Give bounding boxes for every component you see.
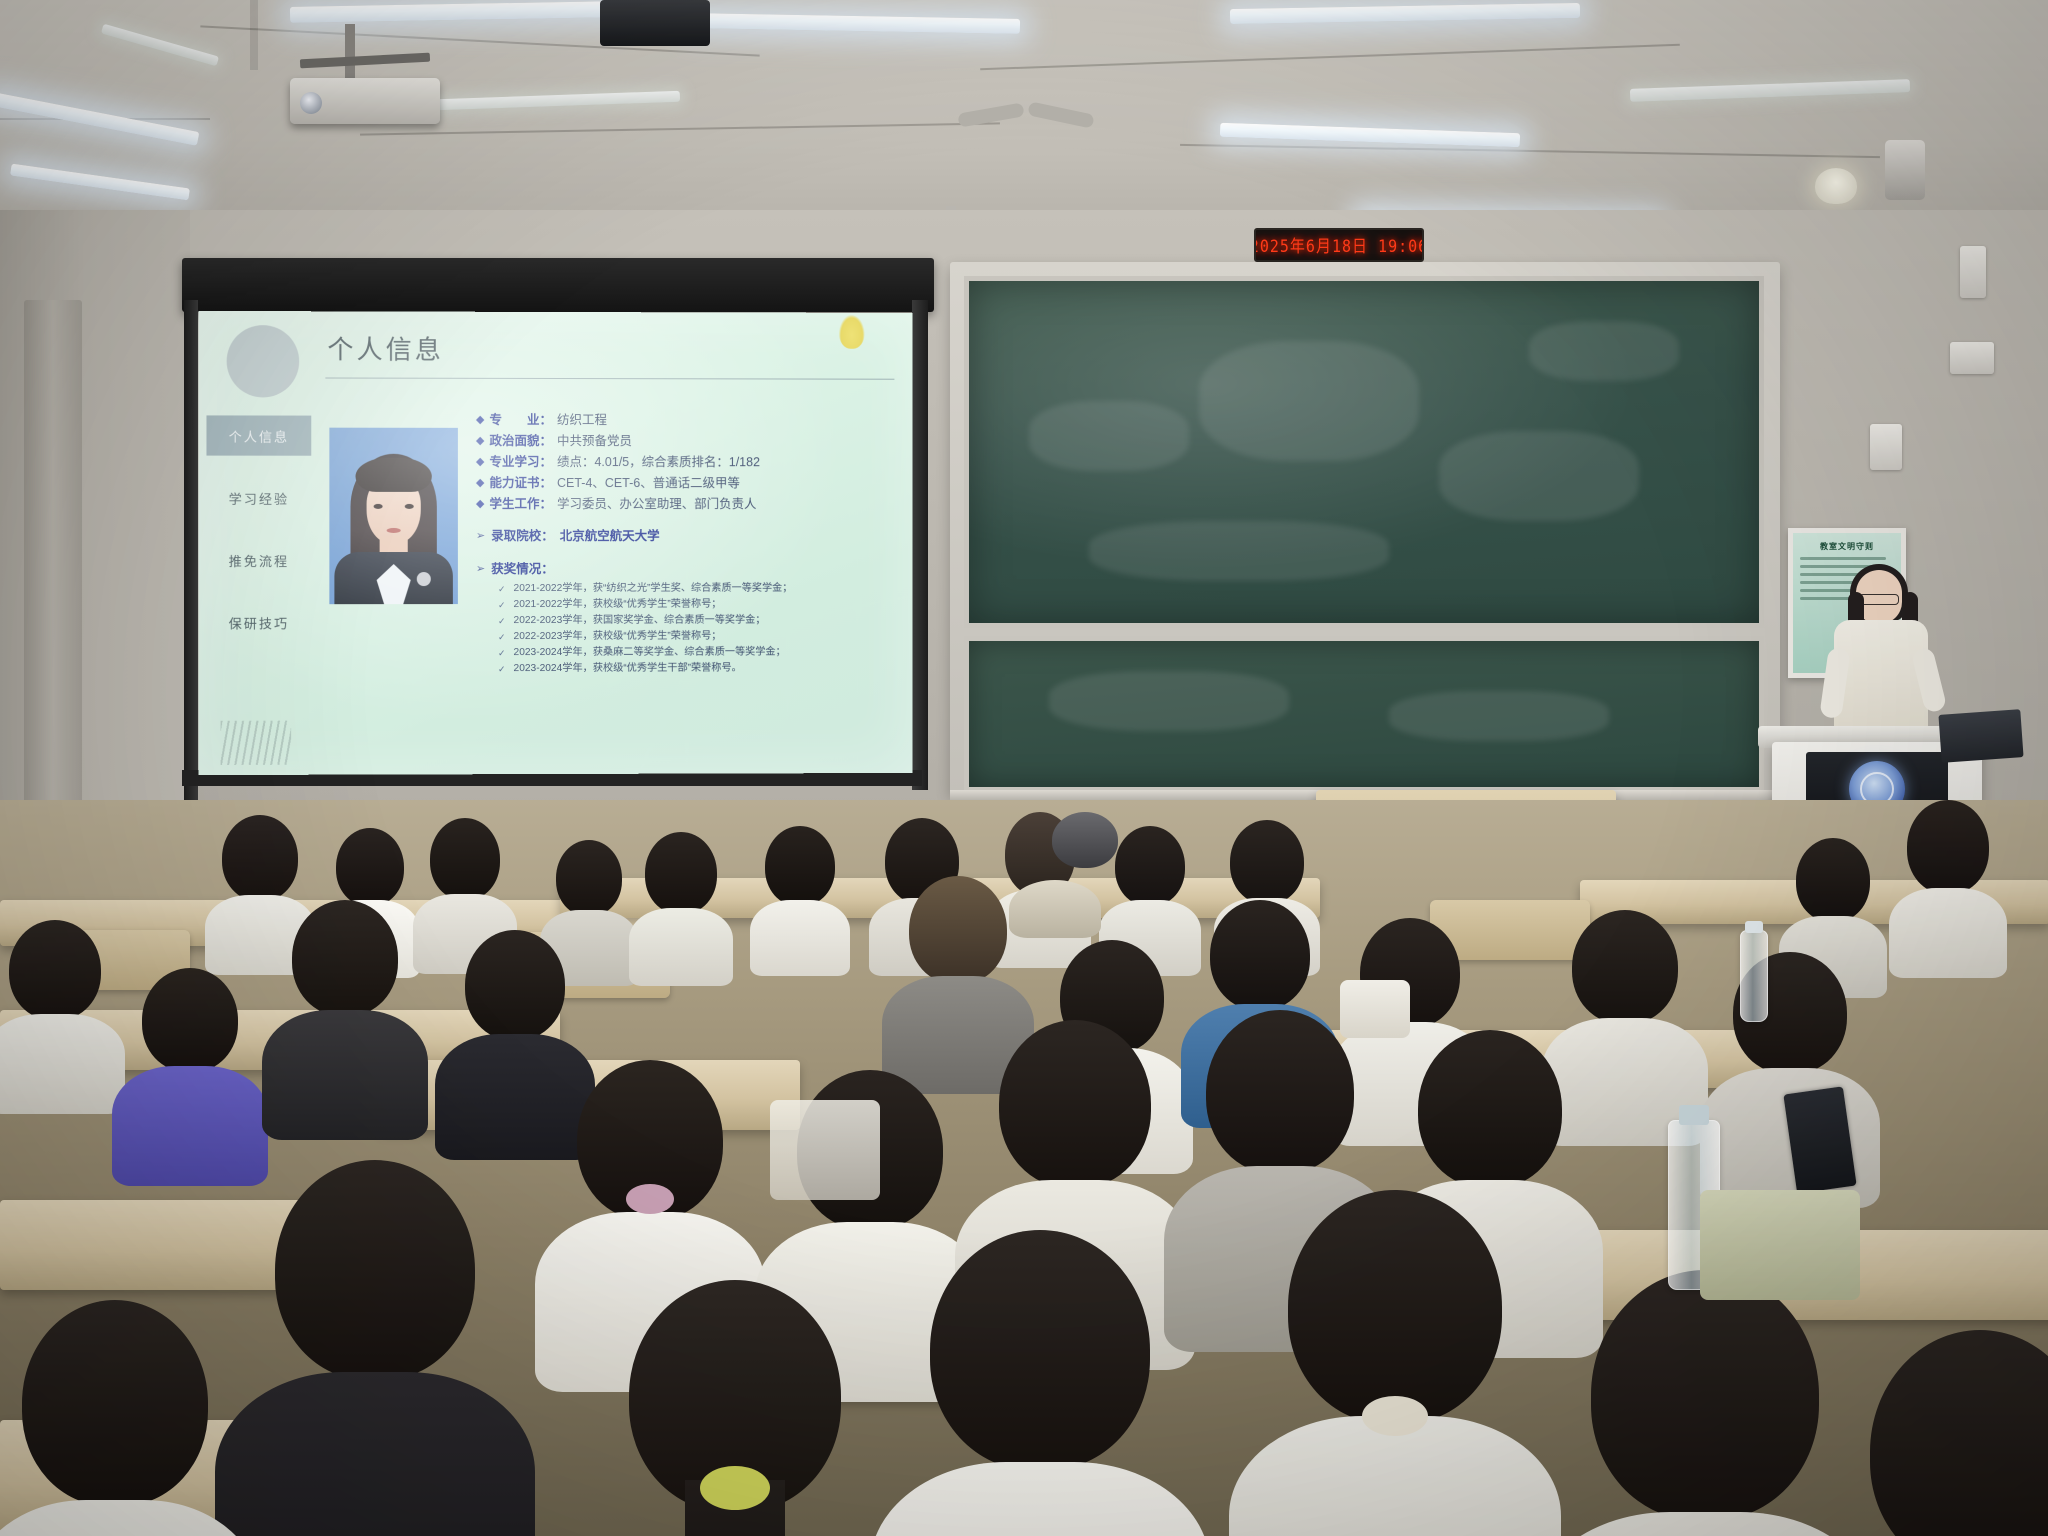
ceiling-fan [958,108,1098,124]
photo-shirt [377,564,411,604]
audience-person-foreground [0,1300,230,1536]
check-bullet-icon: ✓ [498,645,506,661]
slide-decoration-circle [227,325,300,397]
slide-bullet-political-status: ◆ 政治面貌： 中共预备党员 [476,431,904,453]
photo-eye-right [405,504,414,509]
award-list-item: ✓ 2021-2022学年，获校级“优秀学生”荣誉称号； [476,597,904,613]
audience-person [1045,812,1125,872]
slide-section-admitted-school: ➢ 录取院校： 北京航空航天大学 [476,524,904,548]
slide-nav: 个人信息 学习经验 推免流程 保研技巧 [206,415,311,664]
person-head [645,832,717,914]
audience-person-foreground [900,1230,1180,1536]
projection-screen-frame [182,258,934,312]
slide-nav-item-personal-info[interactable]: 个人信息 [206,415,311,455]
award-text: 2023-2024学年，获校级“优秀学生干部”荣誉称号。 [514,661,742,677]
slide-bullet-student-work: ◆ 学生工作： 学习委员、办公室助理、部门负责人 [476,494,904,515]
award-text: 2021-2022学年，获校级“优秀学生”荣誉称号； [514,597,722,613]
slide-body: ◆ 专 业： 纺织工程 ◆ 政治面貌： 中共预备党员 ◆ 专业学习： 绩点：4.… [476,410,904,677]
award-list-item: ✓ 2022-2023学年，获国家奖学金、综合素质一等奖学金； [476,613,904,629]
bullet-key: 学生工作： [489,494,552,515]
diamond-bullet-icon: ◆ [476,494,484,515]
wall-lamp [1815,168,1857,204]
person-head [1230,820,1304,904]
podium-monitor[interactable] [1938,709,2023,763]
award-text: 2022-2023学年，获国家奖学金、综合素质一等奖学金； [514,613,766,629]
person-head [1418,1030,1562,1188]
wall-switch[interactable] [1960,246,1986,298]
person-head [142,968,238,1072]
person-head-curly [909,876,1007,984]
person-body [1889,888,2007,978]
person-head [1870,1330,2048,1536]
chevron-bullet-icon: ➢ [476,524,485,548]
audience-person [425,818,505,944]
bullet-key: 能力证书： [489,473,552,494]
person-head [275,1160,475,1380]
person-body [0,1014,125,1114]
audience-person-with-cap [1000,880,1110,940]
bullet-key: 专业学习： [489,452,552,473]
hair-scrunchie [626,1184,674,1214]
audience-person-foreground [1840,1330,2048,1536]
diamond-bullet-icon: ◆ [476,452,484,473]
wall-pillar [24,300,82,860]
award-text: 2022-2023学年，获校级“优秀学生”荣誉称号； [514,629,722,645]
award-list-item: ✓ 2022-2023学年，获校级“优秀学生”荣誉称号； [476,629,904,645]
chevron-bullet-icon: ➢ [476,557,485,581]
screenshot-root: 2025年6月18日 19:06 个人信息 个人信息 学习经验 推免流程 保研技… [0,0,2048,1536]
projector-mount [345,24,355,82]
person-body [0,1500,260,1536]
check-bullet-icon: ✓ [498,597,506,613]
diamond-bullet-icon: ◆ [476,473,484,494]
award-list-item: ✓ 2021-2022学年，获“纺织之光”学生奖、综合素质一等奖学金； [476,581,904,597]
slide-nav-item-recommendation-process[interactable]: 推免流程 [206,540,311,580]
slide-title-rule [325,377,894,379]
diamond-bullet-icon: ◆ [476,431,484,452]
person-head [1052,812,1118,868]
led-clock-text: 2025年6月18日 19:06 [1254,233,1424,257]
blackboard-lower [964,636,1764,792]
slide-bullet-major: ◆ 专 业： 纺织工程 [476,410,904,432]
photo-mouth [387,528,401,533]
person-head [1796,838,1870,922]
wall-switch[interactable] [1870,424,1902,470]
bullet-value: 学习委员、办公室助理、部门负责人 [557,494,756,515]
ceiling-beam [250,0,258,70]
hair-scrunchie [700,1466,770,1510]
slide-decoration-leaf [839,315,865,349]
award-text: 2021-2022学年，获“纺织之光”学生奖、综合素质一等奖学金； [514,581,793,597]
tote-bag [1700,1190,1860,1300]
bullet-value: 纺织工程 [557,410,607,431]
audience-person-foreground [1560,1270,1850,1536]
lecture-hall-room: 2025年6月18日 19:06 个人信息 个人信息 学习经验 推免流程 保研技… [0,0,2048,1536]
person-body [1530,1512,1880,1536]
person-head [222,815,298,901]
audience-person [130,968,250,1158]
slide-nav-item-postgrad-tips[interactable]: 保研技巧 [206,602,311,642]
screen-edge-left [184,300,198,800]
slide-section-awards: ➢ 获奖情况： [476,557,904,581]
person-body [262,1010,428,1140]
award-list-item: ✓ 2023-2024学年，获桑麻二等奖学金、综合素质一等奖学金； [476,645,904,662]
person-head [1907,800,1989,894]
water-bottle[interactable] [1740,930,1768,1022]
photo-eye-left [374,504,383,509]
photo-suit [334,552,452,604]
audience-person [1900,800,1996,950]
slide-decoration-pattern [221,721,292,765]
slide-bullet-certificates: ◆ 能力证书： CET-4、CET-6、普通话二级甲等 [476,473,904,494]
wall-speaker [1885,140,1925,200]
blackboard-upper [964,276,1764,628]
slide-title: 个人信息 [327,329,444,366]
person-head [1288,1190,1502,1424]
projector-lens [300,92,322,114]
audience-person-foreground [1260,1190,1530,1536]
cap-icon [1009,880,1101,938]
person-body [750,900,850,976]
bullet-key: 专 业： [489,410,552,431]
person-head [1572,910,1678,1024]
audience-person-foreground [250,1160,500,1536]
photo-badge [417,572,431,586]
audience-person [1790,838,1876,968]
sign-title: 教室文明守则 [1800,541,1894,552]
person-head [292,900,398,1016]
ceiling-equipment-box [600,0,710,46]
person-head [556,840,622,916]
diamond-bullet-icon: ◆ [476,410,484,431]
bullet-value: 中共预备党员 [557,431,632,452]
person-head [1115,826,1185,906]
check-bullet-icon: ✓ [498,629,506,645]
item-on-desk [1340,980,1410,1038]
presenter-glasses [1859,594,1899,605]
audience-person [640,832,722,956]
section-value: 北京航空航天大学 [560,524,660,548]
bullet-value: CET-4、CET-6、普通话二级甲等 [557,473,740,494]
person-head [999,1020,1151,1188]
plastic-bag [770,1100,880,1200]
audience-person [0,920,110,1080]
presentation-slide: 个人信息 个人信息 学习经验 推免流程 保研技巧 [198,311,912,775]
slide-bullet-academics: ◆ 专业学习： 绩点：4.01/5，综合素质排名：1/182 [476,452,904,473]
person-head [1206,1010,1354,1174]
check-bullet-icon: ✓ [498,661,506,677]
person-head [22,1300,208,1506]
person-body [870,1462,1210,1536]
audience-person [455,930,575,1130]
award-list-item: ✓ 2023-2024学年，获校级“优秀学生干部”荣誉称号。 [476,660,904,677]
audience-person-foreground [600,1280,870,1536]
audience-person [280,900,410,1110]
person-head [1591,1270,1819,1520]
person-head [9,920,101,1020]
wall-socket[interactable] [1950,342,1994,374]
award-text: 2023-2024学年，获桑麻二等奖学金、综合素质一等奖学金； [514,645,786,661]
id-photo [329,428,458,605]
person-body [215,1372,535,1536]
led-clock-display: 2025年6月18日 19:06 [1254,228,1424,262]
hair-scrunchie [1362,1396,1428,1436]
check-bullet-icon: ✓ [498,613,506,629]
section-label: 获奖情况： [491,557,554,581]
audience-person [760,826,840,948]
person-body [112,1066,268,1186]
bullet-key: 政治面貌： [489,431,552,452]
check-bullet-icon: ✓ [498,581,506,597]
person-head [765,826,835,906]
presenter-body [1834,620,1928,738]
slide-nav-item-study-experience[interactable]: 学习经验 [206,478,311,518]
bullet-value: 绩点：4.01/5，综合素质排名：1/182 [557,452,760,473]
person-head [465,930,565,1040]
person-head [1210,900,1310,1010]
person-head [930,1230,1150,1470]
person-body [629,908,733,986]
screen-edge-right [912,300,928,790]
person-head [336,828,404,906]
person-head [430,818,500,900]
photo-bangs [356,458,432,492]
section-label: 录取院校： [491,524,554,548]
